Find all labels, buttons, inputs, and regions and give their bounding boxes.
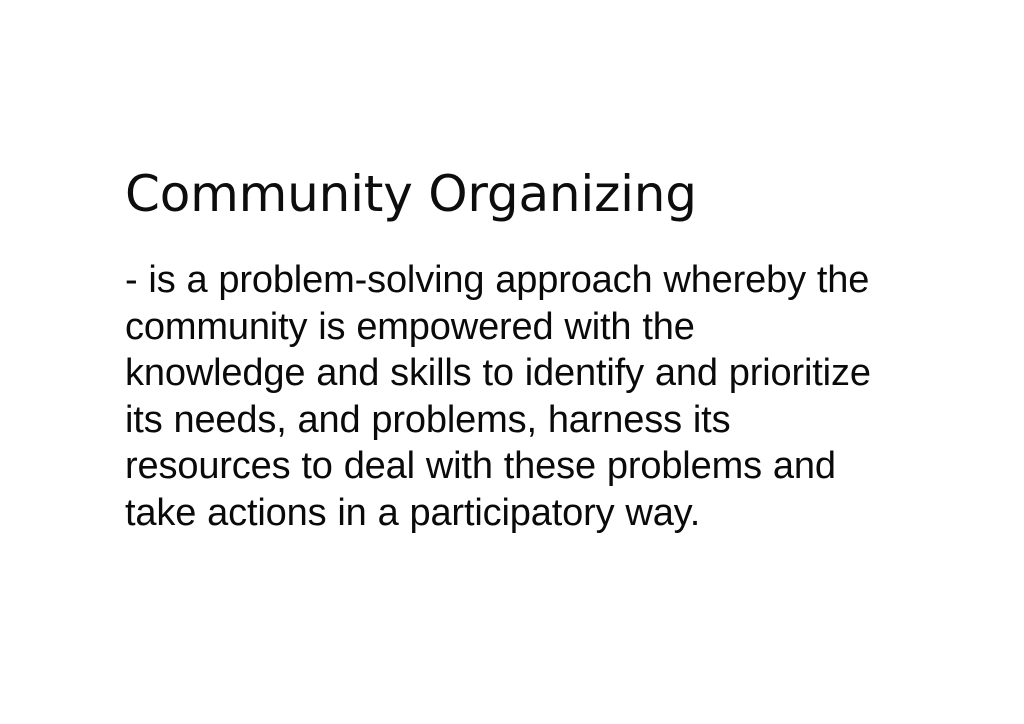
slide-body-text: - is a problem-solving approach whereby … [125, 257, 915, 536]
body-line: resources to deal with these problems an… [125, 443, 915, 490]
body-line: knowledge and skills to identify and pri… [125, 350, 915, 397]
body-line: take actions in a participatory way. [125, 490, 915, 537]
body-line: its needs, and problems, harness its [125, 397, 915, 444]
presentation-slide: Community Organizing - is a problem-solv… [0, 0, 1024, 724]
body-line: community is empowered with the [125, 304, 915, 351]
page-title: Community Organizing [125, 163, 925, 225]
body-line: - is a problem-solving approach whereby … [125, 257, 915, 304]
